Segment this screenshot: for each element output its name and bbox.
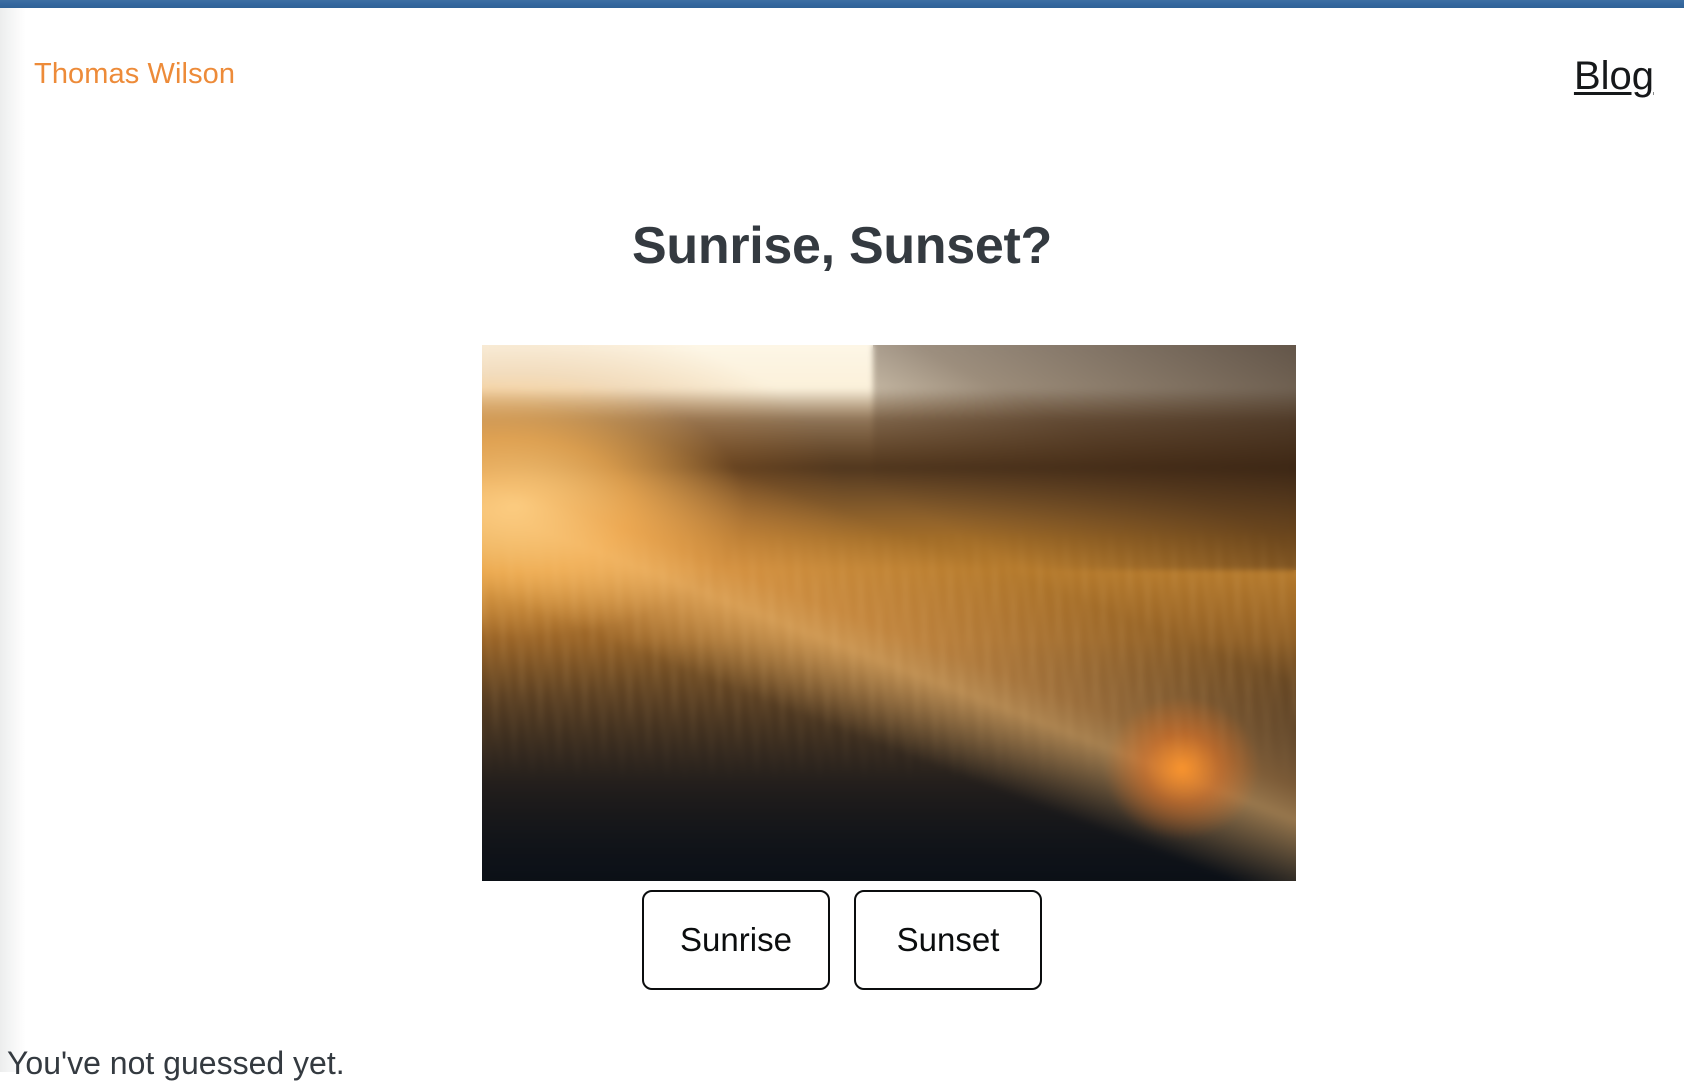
site-header: Thomas Wilson Blog [0, 8, 1684, 134]
primary-nav: Blog [1574, 52, 1654, 100]
nav-item-blog[interactable]: Blog [1574, 54, 1654, 98]
guess-button-group: Sunrise Sunset [0, 890, 1684, 990]
sunrise-sunset-photo [482, 345, 1296, 881]
sunrise-guess-button[interactable]: Sunrise [642, 890, 830, 990]
photo-grass-texture [482, 527, 1296, 784]
guess-result-message: You've not guessed yet. [7, 1042, 345, 1084]
page-surface: Thomas Wilson Blog Sunrise, Sunset? Sunr… [0, 8, 1684, 1072]
sunset-guess-button[interactable]: Sunset [854, 890, 1042, 990]
photo-image [482, 345, 1296, 881]
page-title: Sunrise, Sunset? [0, 215, 1684, 277]
browser-chrome-bar [0, 0, 1684, 8]
brand-link[interactable]: Thomas Wilson [34, 56, 235, 92]
